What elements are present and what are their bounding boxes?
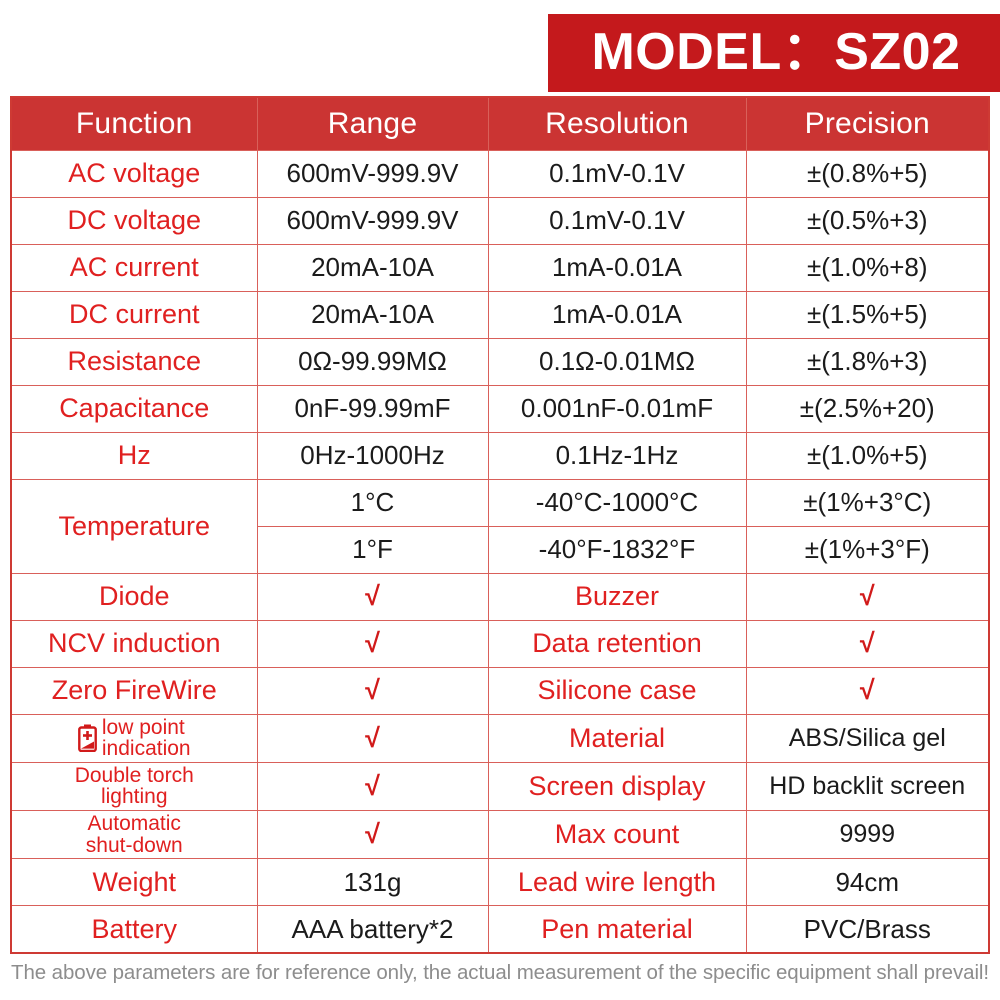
checkmark-icon: √ <box>257 620 488 667</box>
feature-label-text: Zero FireWire <box>52 675 217 705</box>
resolution-value: -40°C-1000°C <box>488 479 746 526</box>
feature-label: Material <box>488 714 746 762</box>
feature-label: Battery <box>11 906 257 953</box>
feature-label-text: Battery <box>91 914 177 944</box>
function-label-text: Resistance <box>67 346 201 376</box>
range-value-text: 0nF-99.99mF <box>294 393 450 423</box>
feature-label-text: Material <box>569 723 665 753</box>
function-label: DC current <box>11 291 257 338</box>
feature-value-text: 94cm <box>835 867 899 897</box>
range-value: 1°C <box>257 479 488 526</box>
feature-value-text: PVC/Brass <box>804 914 931 944</box>
checkmark-icon: √ <box>257 811 488 859</box>
range-value-text: 600mV-999.9V <box>286 205 458 235</box>
table-row-temperature: Temperature1°C-40°C-1000°C±(1%+3°C) <box>11 479 989 526</box>
table-row: DC voltage600mV-999.9V0.1mV-0.1V±(0.5%+3… <box>11 197 989 244</box>
feature-label: Lead wire length <box>488 859 746 906</box>
feature-value-text: AAA battery*2 <box>292 914 454 944</box>
checkmark-icon-text: √ <box>365 675 380 705</box>
table-row: Zero FireWire√Silicone case√ <box>11 667 989 714</box>
feature-label: Automaticshut-down <box>11 811 257 859</box>
range-value: 600mV-999.9V <box>257 197 488 244</box>
feature-label: Pen material <box>488 906 746 953</box>
precision-value-text: ±(1%+3°C) <box>803 487 931 517</box>
feature-label-text: Weight <box>92 867 176 897</box>
feature-label: Buzzer <box>488 573 746 620</box>
feature-label: Screen display <box>488 762 746 810</box>
feature-value-text: 9999 <box>839 820 895 848</box>
feature-value: AAA battery*2 <box>257 906 488 953</box>
range-value-text: 20mA-10A <box>311 252 434 282</box>
resolution-value: 0.1mV-0.1V <box>488 150 746 197</box>
column-header-resolution: Resolution <box>488 97 746 150</box>
feature-label-text: NCV induction <box>48 628 221 658</box>
table-row: Capacitance0nF-99.99mF0.001nF-0.01mF±(2.… <box>11 385 989 432</box>
table-row: AC voltage600mV-999.9V0.1mV-0.1V±(0.8%+5… <box>11 150 989 197</box>
disclaimer-text: The above parameters are for reference o… <box>11 961 989 985</box>
precision-value: ±(1.0%+5) <box>746 432 989 479</box>
function-label: AC current <box>11 244 257 291</box>
feature-label-text: Diode <box>99 581 170 611</box>
range-value: 600mV-999.9V <box>257 150 488 197</box>
table-row: Automaticshut-down√Max count9999 <box>11 811 989 859</box>
precision-value-text: ±(1.0%+8) <box>807 252 928 282</box>
resolution-value-text: 1mA-0.01A <box>552 252 682 282</box>
feature-label-text: low pointindication <box>102 717 191 760</box>
table-row: AC current20mA-10A1mA-0.01A±(1.0%+8) <box>11 244 989 291</box>
checkmark-icon: √ <box>257 714 488 762</box>
range-value-text: 20mA-10A <box>311 299 434 329</box>
function-label: AC voltage <box>11 150 257 197</box>
feature-label: low pointindication <box>11 714 257 762</box>
feature-label: Max count <box>488 811 746 859</box>
precision-value: ±(0.8%+5) <box>746 150 989 197</box>
feature-label-text: Lead wire length <box>518 867 716 897</box>
precision-value-text: ±(1.5%+5) <box>807 299 928 329</box>
model-banner: MODEL：SZ02 <box>548 14 1000 92</box>
function-label-text: Hz <box>118 440 151 470</box>
precision-value: ±(1%+3°F) <box>746 526 989 573</box>
range-value-text: 1°F <box>352 534 393 564</box>
checkmark-icon: √ <box>746 620 989 667</box>
feature-value: HD backlit screen <box>746 762 989 810</box>
checkmark-icon-text: √ <box>365 771 380 801</box>
precision-value: ±(1.5%+5) <box>746 291 989 338</box>
checkmark-icon: √ <box>746 573 989 620</box>
feature-label: Silicone case <box>488 667 746 714</box>
function-label-text: AC current <box>70 252 199 282</box>
feature-label-text: Screen display <box>528 771 705 801</box>
range-value: 20mA-10A <box>257 244 488 291</box>
resolution-value-text: 0.1Hz-1Hz <box>556 440 679 470</box>
table-body: AC voltage600mV-999.9V0.1mV-0.1V±(0.8%+5… <box>11 150 989 953</box>
feature-value-text: 131g <box>344 867 402 897</box>
resolution-value-text: 0.1mV-0.1V <box>549 158 685 188</box>
function-label: Hz <box>11 432 257 479</box>
feature-label-text: Pen material <box>541 914 693 944</box>
function-label: Resistance <box>11 338 257 385</box>
precision-value-text: ±(1.0%+5) <box>807 440 928 470</box>
checkmark-icon-text: √ <box>860 628 875 658</box>
range-value: 0Ω-99.99MΩ <box>257 338 488 385</box>
feature-label: Data retention <box>488 620 746 667</box>
range-value-text: 1°C <box>351 487 395 517</box>
resolution-value-text: -40°F-1832°F <box>539 534 696 564</box>
range-value: 20mA-10A <box>257 291 488 338</box>
function-label-text: Temperature <box>58 511 210 541</box>
table-row: Double torchlighting√Screen displayHD ba… <box>11 762 989 810</box>
feature-label-wrap: Automaticshut-down <box>16 813 253 856</box>
precision-value: ±(1.8%+3) <box>746 338 989 385</box>
feature-label-text: Data retention <box>532 628 702 658</box>
resolution-value-text: 1mA-0.01A <box>552 299 682 329</box>
resolution-value: -40°F-1832°F <box>488 526 746 573</box>
precision-value: ±(1%+3°C) <box>746 479 989 526</box>
checkmark-icon-text: √ <box>365 628 380 658</box>
resolution-value-text: 0.1mV-0.1V <box>549 205 685 235</box>
feature-label: NCV induction <box>11 620 257 667</box>
checkmark-icon: √ <box>257 762 488 810</box>
table-row: Diode√Buzzer√ <box>11 573 989 620</box>
function-label-text: DC current <box>69 299 200 329</box>
feature-label-text: Silicone case <box>537 675 696 705</box>
resolution-value: 1mA-0.01A <box>488 244 746 291</box>
feature-label: Weight <box>11 859 257 906</box>
table-row: Resistance0Ω-99.99MΩ0.1Ω-0.01MΩ±(1.8%+3) <box>11 338 989 385</box>
feature-value-text: HD backlit screen <box>769 772 965 800</box>
range-value: 1°F <box>257 526 488 573</box>
resolution-value: 1mA-0.01A <box>488 291 746 338</box>
resolution-value-text: 0.001nF-0.01mF <box>521 393 713 423</box>
function-label-text: AC voltage <box>68 158 200 188</box>
function-label: DC voltage <box>11 197 257 244</box>
checkmark-icon-text: √ <box>860 675 875 705</box>
feature-label-text: Double torchlighting <box>75 765 194 808</box>
checkmark-icon: √ <box>746 667 989 714</box>
range-value: 0Hz-1000Hz <box>257 432 488 479</box>
resolution-value: 0.1mV-0.1V <box>488 197 746 244</box>
feature-label-text: Automaticshut-down <box>86 813 183 856</box>
precision-value-text: ±(0.5%+3) <box>807 205 928 235</box>
precision-value: ±(1.0%+8) <box>746 244 989 291</box>
feature-label-text: Buzzer <box>575 581 659 611</box>
resolution-value-text: -40°C-1000°C <box>536 487 698 517</box>
feature-value: 94cm <box>746 859 989 906</box>
precision-value: ±(2.5%+20) <box>746 385 989 432</box>
feature-value: ABS/Silica gel <box>746 714 989 762</box>
table-row: DC current20mA-10A1mA-0.01A±(1.5%+5) <box>11 291 989 338</box>
feature-label-text: Max count <box>555 819 680 849</box>
resolution-value: 0.1Ω-0.01MΩ <box>488 338 746 385</box>
precision-value-text: ±(1.8%+3) <box>807 346 928 376</box>
precision-value: ±(0.5%+3) <box>746 197 989 244</box>
range-value-text: 0Ω-99.99MΩ <box>298 346 447 376</box>
table-row: low pointindication√MaterialABS/Silica g… <box>11 714 989 762</box>
checkmark-icon-text: √ <box>365 581 380 611</box>
spec-sheet-page: MODEL：SZ02 Function Range Resolution Pre… <box>0 0 1000 1000</box>
checkmark-icon-text: √ <box>860 581 875 611</box>
feature-label-wrap: low pointindication <box>16 717 253 760</box>
column-header-function: Function <box>11 97 257 150</box>
feature-value: PVC/Brass <box>746 906 989 953</box>
table-header-row: Function Range Resolution Precision <box>11 97 989 150</box>
column-header-precision: Precision <box>746 97 989 150</box>
precision-value-text: ±(1%+3°F) <box>805 534 930 564</box>
resolution-value: 0.001nF-0.01mF <box>488 385 746 432</box>
feature-value: 9999 <box>746 811 989 859</box>
function-label: Capacitance <box>11 385 257 432</box>
battery-low-icon <box>78 724 97 752</box>
checkmark-icon-text: √ <box>365 819 380 849</box>
function-label-text: Capacitance <box>59 393 209 423</box>
model-banner-row: MODEL：SZ02 <box>0 0 1000 96</box>
precision-value-text: ±(2.5%+20) <box>800 393 935 423</box>
resolution-value-text: 0.1Ω-0.01MΩ <box>539 346 695 376</box>
resolution-value: 0.1Hz-1Hz <box>488 432 746 479</box>
checkmark-icon-text: √ <box>365 723 380 753</box>
function-label-text: DC voltage <box>67 205 201 235</box>
range-value-text: 600mV-999.9V <box>286 158 458 188</box>
feature-label: Zero FireWire <box>11 667 257 714</box>
function-label: Temperature <box>11 479 257 573</box>
feature-label: Double torchlighting <box>11 762 257 810</box>
feature-label-wrap: Double torchlighting <box>16 765 253 808</box>
feature-value: 131g <box>257 859 488 906</box>
specification-table: Function Range Resolution Precision AC v… <box>10 96 990 954</box>
table-row: Hz0Hz-1000Hz0.1Hz-1Hz±(1.0%+5) <box>11 432 989 479</box>
table-row: Weight131gLead wire length94cm <box>11 859 989 906</box>
range-value: 0nF-99.99mF <box>257 385 488 432</box>
precision-value-text: ±(0.8%+5) <box>807 158 928 188</box>
table-row: BatteryAAA battery*2Pen materialPVC/Bras… <box>11 906 989 953</box>
range-value-text: 0Hz-1000Hz <box>300 440 445 470</box>
column-header-range: Range <box>257 97 488 150</box>
feature-label: Diode <box>11 573 257 620</box>
checkmark-icon: √ <box>257 667 488 714</box>
checkmark-icon: √ <box>257 573 488 620</box>
table-row: NCV induction√Data retention√ <box>11 620 989 667</box>
feature-value-text: ABS/Silica gel <box>789 724 946 752</box>
